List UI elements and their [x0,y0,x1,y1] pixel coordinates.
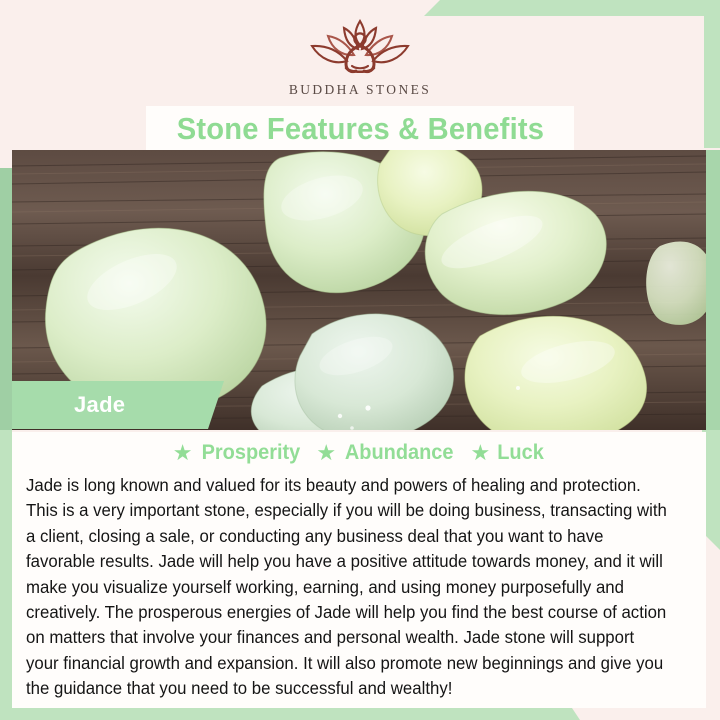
benefit-item-prosperity: ★ Prosperity [173,441,303,465]
benefit-label: Abundance [345,441,454,465]
content-panel: ★ Prosperity ★ Abundance ★ Luck Jade is … [12,432,706,708]
benefit-label: Prosperity [201,441,300,465]
poster: BUDDHA STONES Stone Features & Benefits [0,0,720,720]
star-icon: ★ [173,442,193,464]
benefits-row: ★ Prosperity ★ Abundance ★ Luck [12,432,706,469]
benefit-item-abundance: ★ Abundance [316,441,456,465]
decorative-photo-edge-right [706,150,720,430]
stone-label-banner: Jade [12,381,224,429]
benefit-label: Luck [497,441,544,465]
decorative-block-left [0,168,12,430]
stone-name: Jade [74,392,125,418]
benefit-item-luck: ★ Luck [470,441,545,465]
brand-name: BUDDHA STONES [289,82,431,98]
star-icon: ★ [470,442,490,464]
stone-description: Jade is long known and valued for its be… [26,473,669,702]
star-icon: ★ [316,442,336,464]
brand-logo: BUDDHA STONES [0,14,720,110]
page-title: Stone Features & Benefits [176,111,543,147]
title-banner: Stone Features & Benefits [146,106,574,152]
lotus-meditation-icon [294,14,426,80]
